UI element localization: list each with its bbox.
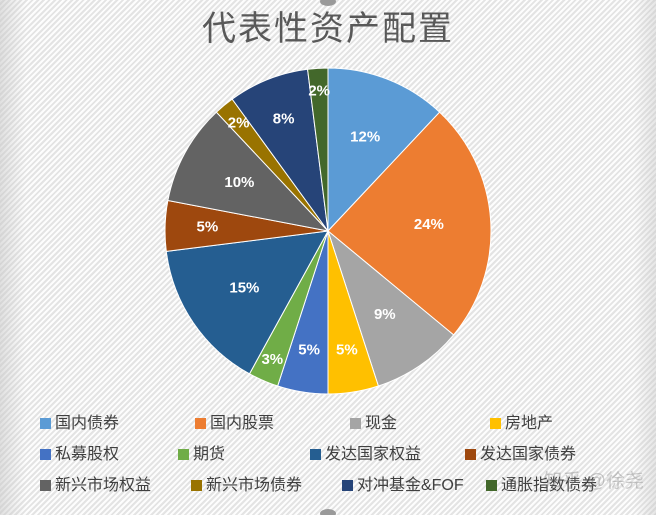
legend: 国内债券 国内股票 现金 房地产 私募股权 期货	[40, 408, 630, 508]
legend-item-domestic-equities[interactable]: 国内股票	[195, 415, 350, 433]
legend-item-label: 发达国家权益	[325, 446, 421, 464]
legend-item-real-estate[interactable]: 房地产	[490, 415, 630, 433]
legend-swatch-icon	[465, 449, 476, 460]
pie-slice-label: 12%	[350, 129, 380, 146]
pie-slice-label: 8%	[273, 110, 295, 127]
legend-item-emerging-equities[interactable]: 新兴市场权益	[40, 477, 191, 495]
pie-slice-label: 2%	[228, 115, 250, 132]
legend-swatch-icon	[195, 418, 206, 429]
legend-swatch-icon	[40, 418, 51, 429]
legend-swatch-icon	[350, 418, 361, 429]
pie-slice-label: 15%	[229, 279, 259, 296]
pie-slice-label: 24%	[414, 216, 444, 233]
legend-item-developed-equities[interactable]: 发达国家权益	[310, 446, 465, 464]
capture-artifact-dot-bottom	[320, 509, 336, 515]
legend-item-developed-bonds[interactable]: 发达国家债券	[465, 446, 620, 464]
legend-item-domestic-bonds[interactable]: 国内债券	[40, 415, 195, 433]
legend-swatch-icon	[310, 449, 321, 460]
legend-row: 新兴市场权益 新兴市场债券 对冲基金&FOF 通胀指数债券	[40, 470, 630, 501]
legend-item-hedge-funds-fof[interactable]: 对冲基金&FOF	[342, 477, 486, 495]
legend-item-label: 私募股权	[55, 446, 119, 464]
capture-artifact-dot-top	[320, 0, 336, 6]
legend-item-label: 新兴市场债券	[206, 477, 302, 495]
legend-item-futures[interactable]: 期货	[178, 446, 310, 464]
pie-slice-label: 2%	[308, 83, 330, 100]
legend-item-label: 现金	[365, 415, 397, 433]
pie-slice-label: 5%	[197, 219, 219, 236]
legend-swatch-icon	[40, 480, 51, 491]
pie-chart-svg[interactable]: 12%24%9%5%5%3%15%5%10%2%8%2%	[163, 66, 493, 396]
legend-swatch-icon	[191, 480, 202, 491]
slide-canvas: 代表性资产配置 12%24%9%5%5%3%15%5%10%2%8%2% 国内债…	[0, 0, 656, 515]
legend-item-label: 发达国家债券	[480, 446, 576, 464]
legend-item-label: 国内股票	[210, 415, 274, 433]
legend-item-cash[interactable]: 现金	[350, 415, 490, 433]
legend-row: 国内债券 国内股票 现金 房地产	[40, 408, 630, 439]
pie-chart[interactable]: 12%24%9%5%5%3%15%5%10%2%8%2%	[163, 66, 493, 396]
legend-swatch-icon	[40, 449, 51, 460]
legend-item-label: 国内债券	[55, 415, 119, 433]
legend-swatch-icon	[342, 480, 353, 491]
pie-slice-label: 10%	[224, 174, 254, 191]
legend-item-inflation-linked-bonds[interactable]: 通胀指数债券	[486, 477, 630, 495]
legend-item-emerging-bonds[interactable]: 新兴市场债券	[191, 477, 342, 495]
pie-slice-label: 5%	[298, 342, 320, 359]
legend-item-label: 通胀指数债券	[501, 477, 597, 495]
legend-row: 私募股权 期货 发达国家权益 发达国家债券	[40, 439, 630, 470]
legend-item-private-equity[interactable]: 私募股权	[40, 446, 178, 464]
legend-swatch-icon	[490, 418, 501, 429]
legend-item-label: 对冲基金&FOF	[357, 477, 464, 495]
legend-swatch-icon	[486, 480, 497, 491]
legend-swatch-icon	[178, 449, 189, 460]
pie-slice-label: 9%	[374, 306, 396, 323]
page-title: 代表性资产配置	[0, 8, 656, 52]
legend-item-label: 房地产	[505, 415, 553, 433]
pie-slice-label: 5%	[336, 342, 358, 359]
legend-item-label: 期货	[193, 446, 225, 464]
legend-item-label: 新兴市场权益	[55, 477, 151, 495]
pie-slice-label: 3%	[261, 351, 283, 368]
